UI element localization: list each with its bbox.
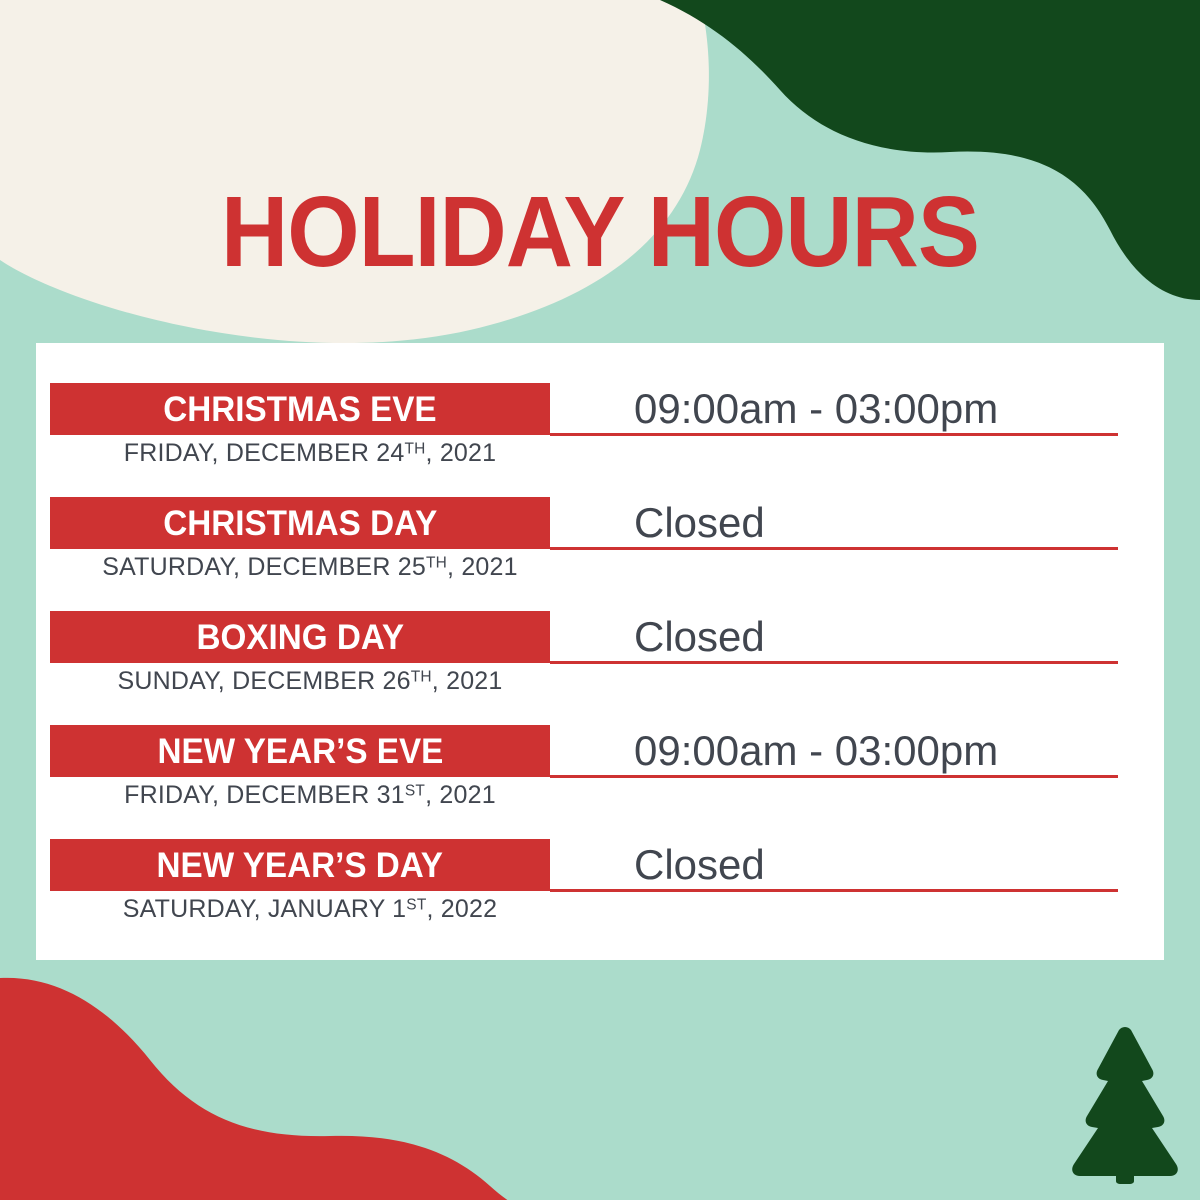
- row-underline: [550, 547, 1118, 550]
- holiday-name-label: CHRISTMAS EVE: [163, 392, 436, 427]
- table-row: BOXING DAY Closed SUNDAY, DECEMBER 26TH,…: [36, 571, 1164, 685]
- holiday-name-banner: BOXING DAY: [50, 611, 550, 663]
- holiday-name-banner: NEW YEAR’S DAY: [50, 839, 550, 891]
- table-row: NEW YEAR’S DAY Closed SATURDAY, JANUARY …: [36, 799, 1164, 913]
- holiday-hours-value: Closed: [634, 612, 765, 662]
- holiday-name-label: NEW YEAR’S DAY: [157, 848, 443, 883]
- table-row: CHRISTMAS EVE 09:00am - 03:00pm FRIDAY, …: [36, 343, 1164, 457]
- date-prefix: SATURDAY, JANUARY 1: [123, 895, 407, 923]
- date-ordinal-suffix: TH: [404, 440, 425, 457]
- holiday-name-banner: CHRISTMAS EVE: [50, 383, 550, 435]
- holiday-hours-poster: HOLIDAY HOURS CHRISTMAS EVE 09:00am - 03…: [0, 0, 1200, 1200]
- holiday-name-banner: NEW YEAR’S EVE: [50, 725, 550, 777]
- title-container: HOLIDAY HOURS: [0, 182, 1200, 282]
- date-ordinal-suffix: ST: [406, 896, 426, 913]
- holiday-name-label: BOXING DAY: [196, 620, 404, 655]
- date-ordinal-suffix: TH: [411, 668, 432, 685]
- row-underline: [550, 775, 1118, 778]
- row-underline: [550, 661, 1118, 664]
- date-ordinal-suffix: TH: [426, 554, 447, 571]
- page-title: HOLIDAY HOURS: [42, 182, 1158, 282]
- holiday-name-label: NEW YEAR’S EVE: [157, 734, 443, 769]
- date-ordinal-suffix: ST: [405, 782, 425, 799]
- holiday-date-label: SATURDAY, JANUARY 1ST, 2022: [50, 894, 570, 924]
- date-tail: , 2022: [427, 895, 498, 923]
- christmas-tree-icon: [1068, 1024, 1182, 1184]
- holiday-hours-value: 09:00am - 03:00pm: [634, 726, 998, 776]
- holiday-hours-value: Closed: [634, 498, 765, 548]
- row-underline: [550, 433, 1118, 436]
- holiday-name-label: CHRISTMAS DAY: [163, 506, 437, 541]
- table-row: CHRISTMAS DAY Closed SATURDAY, DECEMBER …: [36, 457, 1164, 571]
- holiday-hours-value: 09:00am - 03:00pm: [634, 384, 998, 434]
- holiday-hours-value: Closed: [634, 840, 765, 890]
- hours-card: CHRISTMAS EVE 09:00am - 03:00pm FRIDAY, …: [36, 343, 1164, 960]
- holiday-name-banner: CHRISTMAS DAY: [50, 497, 550, 549]
- row-underline: [550, 889, 1118, 892]
- table-row: NEW YEAR’S EVE 09:00am - 03:00pm FRIDAY,…: [36, 685, 1164, 799]
